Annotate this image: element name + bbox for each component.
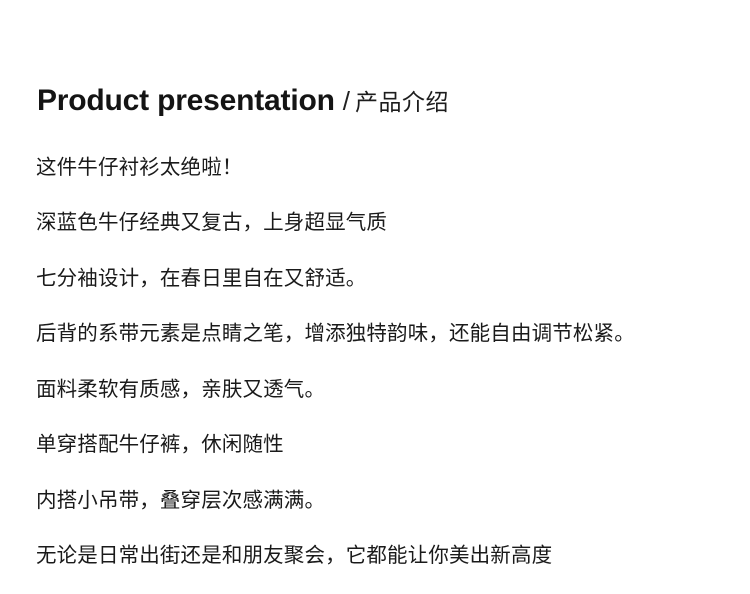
description-line: 七分袖设计，在春日里自在又舒适。 [36, 261, 726, 296]
description-line: 这件牛仔衬衫太绝啦！ [36, 150, 726, 185]
description-line: 深蓝色牛仔经典又复古，上身超显气质 [36, 205, 726, 240]
page-title: Product presentation/产品介绍 [37, 81, 449, 120]
description-line: 单穿搭配牛仔裤，休闲随性 [36, 427, 726, 462]
page-title-separator: / [335, 86, 355, 116]
page-title-english: Product presentation [37, 84, 335, 117]
description-line: 无论是日常出街还是和朋友聚会，它都能让你美出新高度 [36, 538, 726, 573]
page-title-chinese: 产品介绍 [355, 89, 449, 115]
product-presentation-page: Product presentation/产品介绍 这件牛仔衬衫太绝啦！ 深蓝色… [0, 0, 750, 455]
product-description-block: 这件牛仔衬衫太绝啦！ 深蓝色牛仔经典又复古，上身超显气质 七分袖设计，在春日里自… [36, 129, 726, 594]
description-line: 面料柔软有质感，亲肤又透气。 [36, 372, 726, 407]
description-line: 内搭小吊带，叠穿层次感满满。 [36, 483, 726, 518]
description-line: 后背的系带元素是点睛之笔，增添独特韵味，还能自由调节松紧。 [36, 316, 726, 351]
